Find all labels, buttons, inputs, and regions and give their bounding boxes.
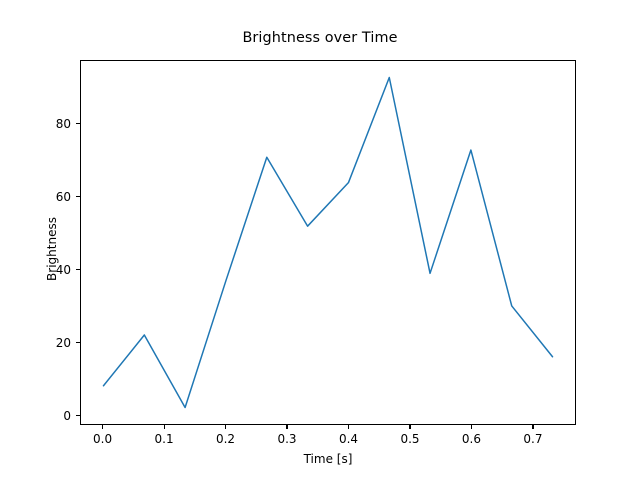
x-tick-label: 0.4 [319,432,379,446]
x-tick-label: 0.3 [257,432,317,446]
x-tick-label: 0.7 [503,432,563,446]
x-tick-mark [164,425,165,429]
x-tick-mark [225,425,226,429]
y-tick-label: 40 [56,262,71,278]
y-axis-label: Brightness [45,189,59,309]
plot-area [81,61,575,424]
x-axis-label: Time [s] [80,452,576,466]
x-tick-mark [409,425,410,429]
y-tick-label: 0 [63,408,71,424]
x-tick-mark [102,425,103,429]
x-tick-label: 0.1 [134,432,194,446]
x-tick-mark [286,425,287,429]
y-tick-label: 20 [56,335,71,351]
x-tick-label: 0.0 [73,432,133,446]
x-tick-label: 0.2 [196,432,256,446]
y-tick-label: 80 [56,116,71,132]
x-tick-mark [348,425,349,429]
figure-canvas: Brightness over Time Brightness Time [s]… [0,0,640,480]
chart-title: Brightness over Time [0,30,640,46]
x-tick-label: 0.6 [441,432,501,446]
x-tick-mark [471,425,472,429]
x-tick-mark [532,425,533,429]
x-tick-label: 0.5 [380,432,440,446]
plot-axes-frame [80,60,576,425]
data-series-line [103,77,552,407]
y-tick-label: 60 [56,189,71,205]
